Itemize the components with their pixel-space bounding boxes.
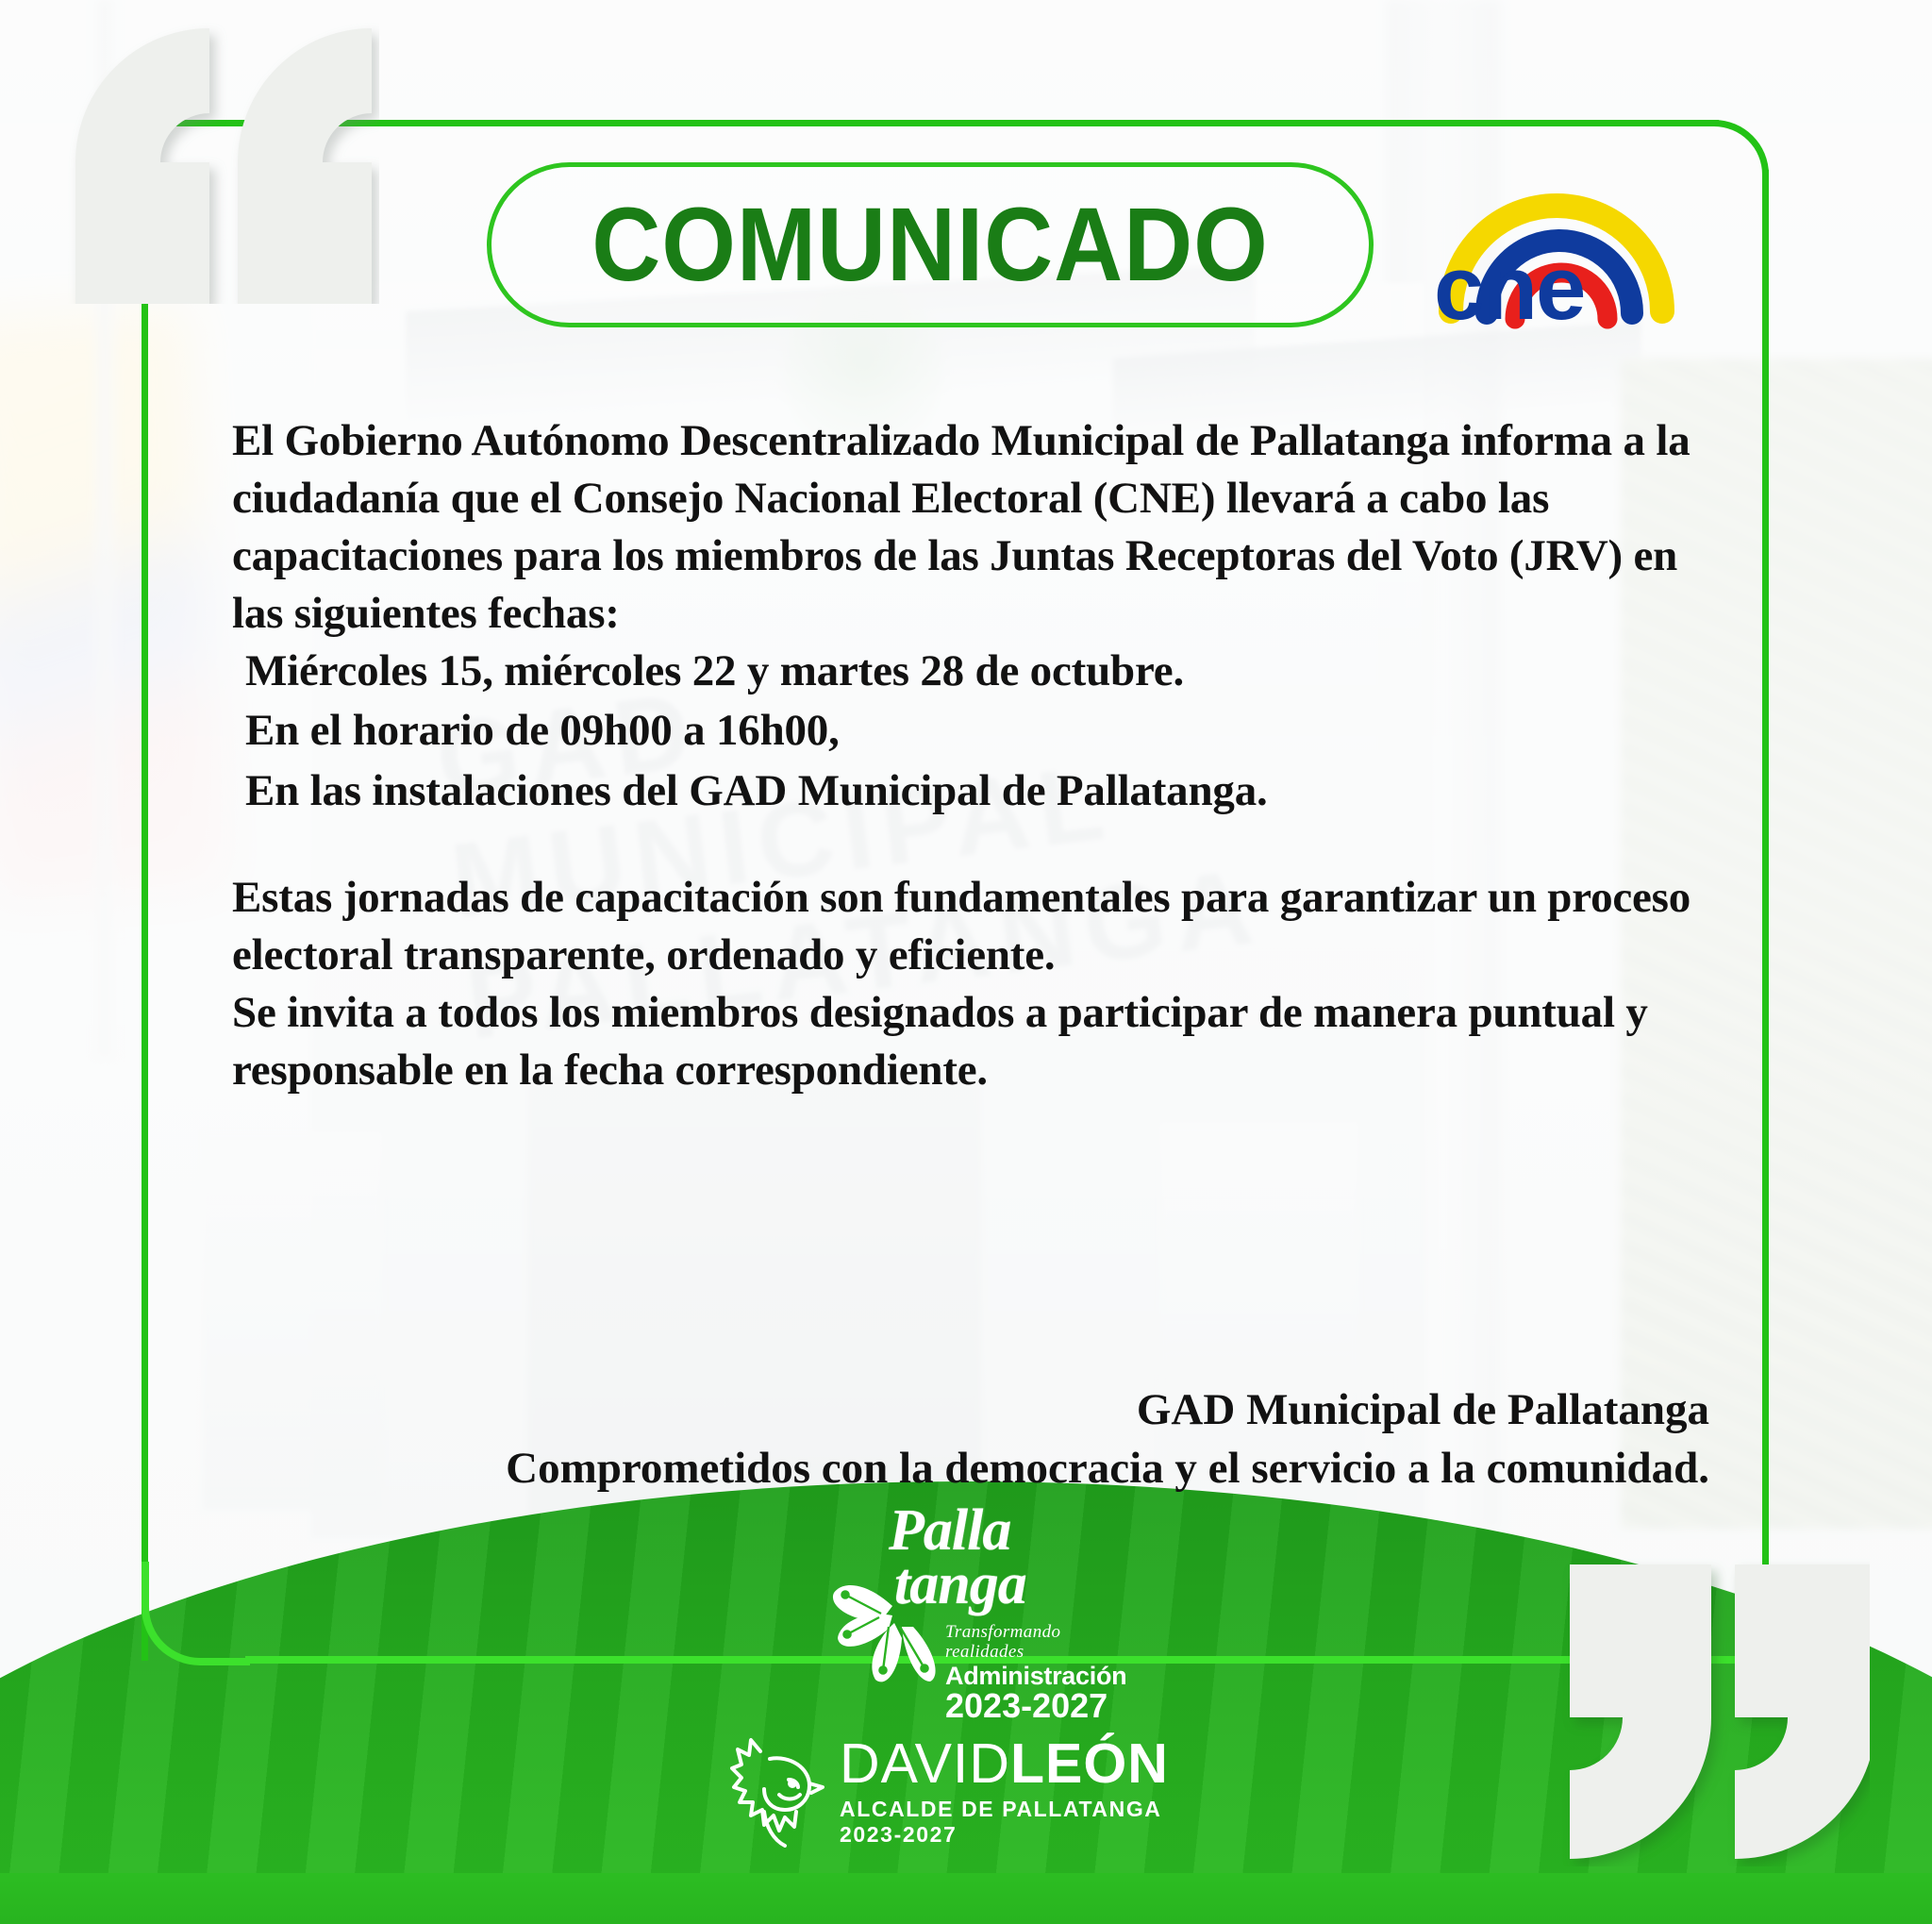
pallatanga-word-line1: Palla bbox=[889, 1504, 1115, 1558]
frame-line-right bbox=[1762, 170, 1769, 1661]
closing-quote-glyph bbox=[1558, 1555, 1870, 1866]
date-line-2: En el horario de 09h00 a 16h00, bbox=[245, 702, 1709, 760]
middle-paragraph: Estas jornadas de capacitación son funda… bbox=[232, 869, 1709, 984]
pallatanga-word-line2: tanga bbox=[894, 1558, 1115, 1612]
frame-line-left bbox=[142, 123, 148, 1661]
date-line-1: Miércoles 15, miércoles 22 y martes 28 d… bbox=[245, 643, 1709, 700]
mayor-last-name: LEÓN bbox=[1010, 1736, 1169, 1792]
signature-line-1: GAD Municipal de Pallatanga bbox=[232, 1380, 1709, 1439]
lead-paragraph: El Gobierno Autónomo Descentralizado Mun… bbox=[232, 412, 1709, 643]
cne-logo: cne bbox=[1424, 160, 1698, 340]
opening-quote-glyph bbox=[68, 21, 379, 304]
mayor-role: ALCALDE DE PALLATANGA 2023-2027 bbox=[840, 1797, 1198, 1848]
closing-quote-icon bbox=[1558, 1555, 1870, 1866]
green-base-strip bbox=[0, 1873, 1932, 1924]
pallatanga-wordmark: Palla tanga bbox=[889, 1504, 1115, 1612]
pallatanga-years: 2023-2027 bbox=[945, 1689, 1115, 1724]
closing-paragraph: Se invita a todos los miembros designado… bbox=[232, 984, 1709, 1099]
page-title: COMUNICADO bbox=[591, 193, 1269, 297]
pallatanga-tagline: Transformando realidades bbox=[945, 1623, 1115, 1663]
signature-block: GAD Municipal de Pallatanga Comprometido… bbox=[232, 1380, 1709, 1497]
comunicado-title-pill: COMUNICADO bbox=[487, 162, 1374, 327]
comunicado-poster: GAD MUNICIPAL PALLATANGA COMUNICAD bbox=[0, 0, 1932, 1924]
pallatanga-subtext: Transformando realidades Administración … bbox=[945, 1623, 1115, 1724]
mayor-first-name: DAVID bbox=[840, 1736, 1010, 1792]
pallatanga-administration: Administración bbox=[945, 1663, 1115, 1689]
mayor-wordmark: DAVIDLEÓN ALCALDE DE PALLATANGA 2023-202… bbox=[840, 1736, 1198, 1848]
opening-quote-icon bbox=[68, 21, 379, 304]
pallatanga-logo: Palla tanga Transformando realidades Adm… bbox=[826, 1502, 1109, 1702]
announcement-body: El Gobierno Autónomo Descentralizado Mun… bbox=[232, 412, 1709, 1099]
cne-logo-graphic: cne bbox=[1424, 160, 1698, 340]
signature-line-2: Comprometidos con la democracia y el ser… bbox=[232, 1439, 1709, 1497]
lion-head-icon bbox=[726, 1736, 828, 1848]
svg-text:cne: cne bbox=[1434, 238, 1584, 339]
dates-block: Miércoles 15, miércoles 22 y martes 28 d… bbox=[232, 643, 1709, 819]
mayor-logo: DAVIDLEÓN ALCALDE DE PALLATANGA 2023-202… bbox=[726, 1732, 1198, 1850]
date-line-3: En las instalaciones del GAD Municipal d… bbox=[245, 762, 1709, 820]
mayor-name: DAVIDLEÓN bbox=[840, 1736, 1198, 1792]
